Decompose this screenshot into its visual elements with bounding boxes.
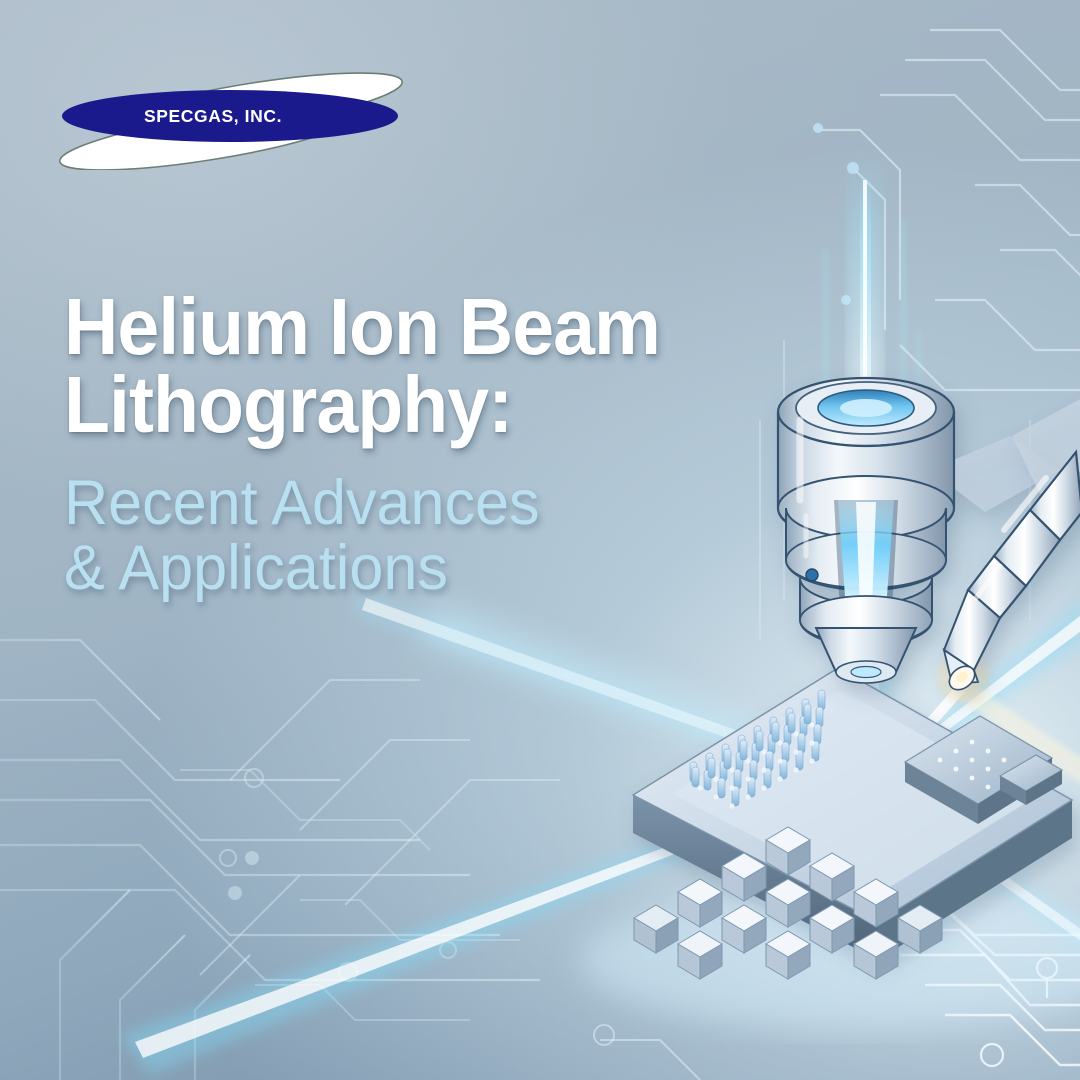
poster-canvas: SPECGAS, INC. Helium Ion Beam Lithograph… (0, 0, 1080, 1080)
company-logo[interactable]: SPECGAS, INC. (58, 60, 410, 170)
headline-block: Helium Ion Beam Lithography: Recent Adva… (64, 288, 824, 602)
logo-text: SPECGAS, INC. (144, 106, 282, 126)
page-title: Helium Ion Beam Lithography: (64, 288, 778, 445)
page-subtitle: Recent Advances & Applications (64, 471, 801, 602)
